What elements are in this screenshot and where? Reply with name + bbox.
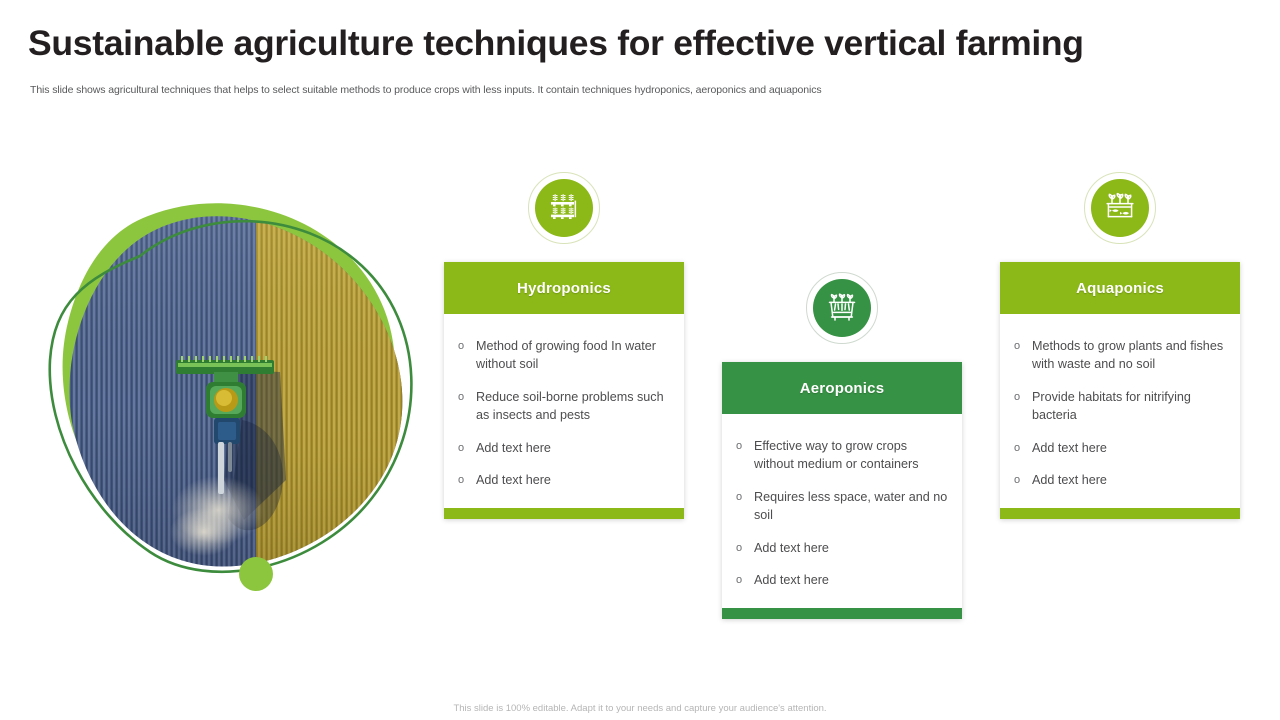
card-footbar-aquaponics: [1000, 508, 1240, 519]
list-item: o Requires less space, water and no soil: [736, 489, 948, 525]
bullet-marker: o: [1014, 440, 1032, 457]
bullet-text: Requires less space, water and no soil: [754, 489, 948, 525]
card-header-aquaponics: Aquaponics: [1000, 262, 1240, 314]
bullet-text: Add text here: [476, 472, 670, 490]
bullet-marker: o: [458, 389, 476, 406]
list-item: o Add text here: [736, 572, 948, 590]
bullet-text: Add text here: [754, 540, 948, 558]
bullet-text: Provide habitats for nitrifying bacteria: [1032, 389, 1226, 425]
footer-note: This slide is 100% editable. Adapt it to…: [0, 703, 1280, 714]
list-item: o Effective way to grow crops without me…: [736, 438, 948, 474]
icon-badge-hydroponics: [528, 172, 600, 244]
card-title-aeroponics: Aeroponics: [800, 380, 885, 397]
bullet-text: Add text here: [754, 572, 948, 590]
bullet-list-hydroponics: o Method of growing food In water withou…: [458, 338, 670, 490]
bullet-text: Method of growing food In water without …: [476, 338, 670, 374]
bullet-marker: o: [458, 440, 476, 457]
card-body-aquaponics: o Methods to grow plants and fishes with…: [1000, 314, 1240, 508]
icon-badge-aeroponics: [806, 272, 878, 344]
bullet-list-aquaponics: o Methods to grow plants and fishes with…: [1014, 338, 1226, 490]
list-item: o Reduce soil-borne problems such as ins…: [458, 389, 670, 425]
visual-graphic: [28, 180, 438, 600]
aeroponics-tray-icon: [825, 291, 859, 325]
card-body-aeroponics: o Effective way to grow crops without me…: [722, 414, 962, 608]
bullet-text: Reduce soil-borne problems such as insec…: [476, 389, 670, 425]
bullet-marker: o: [458, 472, 476, 489]
bullet-marker: o: [736, 438, 754, 455]
card-body-hydroponics: o Method of growing food In water withou…: [444, 314, 684, 508]
bullet-marker: o: [736, 489, 754, 506]
hydroponics-rack-icon: [547, 191, 581, 225]
green-dot: [239, 557, 273, 591]
card-title-hydroponics: Hydroponics: [517, 280, 611, 297]
card-header-hydroponics: Hydroponics: [444, 262, 684, 314]
bullet-text: Add text here: [1032, 440, 1226, 458]
card-title-aquaponics: Aquaponics: [1076, 280, 1164, 297]
list-item: o Add text here: [458, 440, 670, 458]
page-subtitle: This slide shows agricultural techniques…: [30, 84, 1150, 98]
bullet-marker: o: [736, 540, 754, 557]
bullet-list-aeroponics: o Effective way to grow crops without me…: [736, 438, 948, 590]
list-item: o Add text here: [458, 472, 670, 490]
bullet-marker: o: [1014, 389, 1032, 406]
card-footbar-hydroponics: [444, 508, 684, 519]
list-item: o Add text here: [736, 540, 948, 558]
list-item: o Method of growing food In water withou…: [458, 338, 670, 374]
card-hydroponics[interactable]: Hydroponics o Method of growing food In …: [444, 262, 684, 519]
card-aquaponics[interactable]: Aquaponics o Methods to grow plants and …: [1000, 262, 1240, 519]
list-item: o Methods to grow plants and fishes with…: [1014, 338, 1226, 374]
bullet-text: Add text here: [1032, 472, 1226, 490]
bullet-text: Effective way to grow crops without medi…: [754, 438, 948, 474]
bullet-marker: o: [1014, 472, 1032, 489]
page-title: Sustainable agriculture techniques for e…: [28, 24, 1238, 63]
card-aeroponics[interactable]: Aeroponics o Effective way to grow crops…: [722, 362, 962, 619]
aquaponics-fish-tank-icon: [1103, 191, 1137, 225]
bullet-marker: o: [1014, 338, 1032, 355]
card-footbar-aeroponics: [722, 608, 962, 619]
card-header-aeroponics: Aeroponics: [722, 362, 962, 414]
icon-badge-aquaponics: [1084, 172, 1156, 244]
list-item: o Add text here: [1014, 440, 1226, 458]
bullet-text: Add text here: [476, 440, 670, 458]
bullet-marker: o: [736, 572, 754, 589]
bullet-marker: o: [458, 338, 476, 355]
list-item: o Provide habitats for nitrifying bacter…: [1014, 389, 1226, 425]
bullet-text: Methods to grow plants and fishes with w…: [1032, 338, 1226, 374]
list-item: o Add text here: [1014, 472, 1226, 490]
slide-root: Sustainable agriculture techniques for e…: [0, 0, 1280, 720]
